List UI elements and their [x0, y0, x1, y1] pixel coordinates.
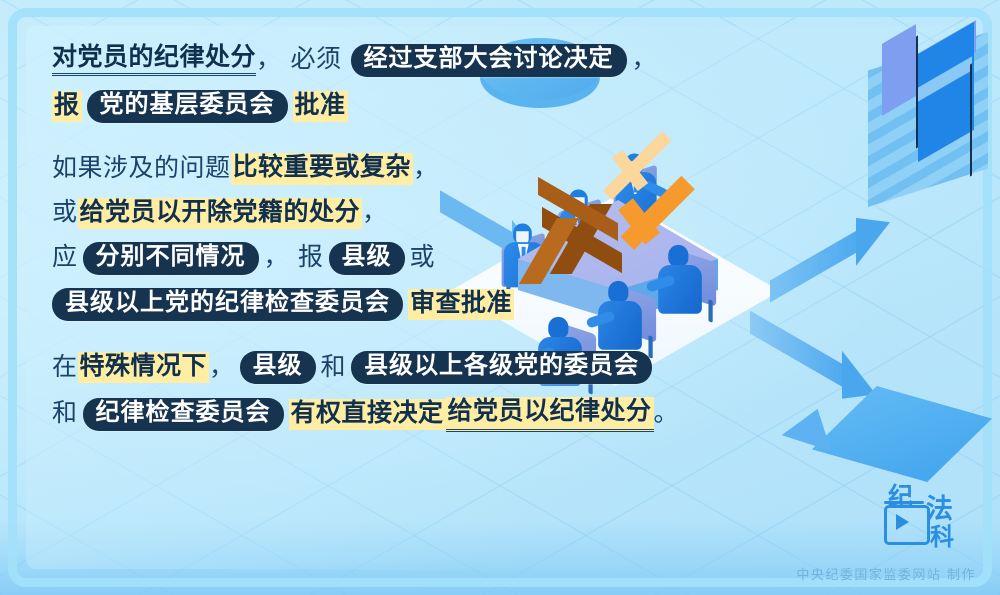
logo-underline: [884, 501, 924, 504]
highlight-run: 比较重要或复杂: [231, 153, 414, 184]
text-run: 必须: [291, 47, 342, 73]
text-line: 应分别不同情况，报县级或: [52, 242, 692, 275]
highlight-run: 审查批准: [408, 289, 514, 320]
text-run: 或: [52, 200, 78, 226]
text-run: ，: [632, 47, 658, 73]
text-line: 或给党员以开除党籍的处分，: [52, 198, 692, 229]
play-icon: [896, 514, 909, 530]
striped-building-icon: [818, 32, 988, 222]
highlight-run: 批准: [293, 91, 348, 122]
highlight-run-underlined: 给党员以纪律处分: [446, 397, 654, 431]
pill-badge: 党的基层委员会: [87, 90, 288, 123]
paragraph-p2: 如果涉及的问题比较重要或复杂，或给党员以开除党籍的处分，应分别不同情况，报县级或…: [52, 153, 692, 321]
pill-badge: 纪律检查委员会: [83, 398, 284, 431]
text-line: 在特殊情况下，县级和县级以上各级党的委员会: [52, 351, 692, 384]
pill-badge: 经过支部大会讨论决定: [351, 44, 627, 77]
logo-char-ke: 科: [930, 517, 954, 552]
text-run: 和: [321, 355, 347, 381]
text-run: 报: [298, 245, 324, 271]
blue-slab-icon: [812, 386, 992, 490]
text-run: 。: [654, 401, 680, 427]
text-run: 和: [52, 401, 78, 427]
text-run: ，: [362, 200, 388, 226]
text-line: 报党的基层委员会批准: [52, 90, 692, 123]
text-run: ，: [413, 156, 439, 182]
highlight-run: 报: [52, 91, 82, 122]
text-run: ，: [264, 245, 290, 271]
text-content: 对党员的纪律处分，必须经过支部大会讨论决定，报党的基层委员会批准如果涉及的问题比…: [52, 44, 692, 432]
text-run: 在: [52, 355, 78, 381]
pill-badge: 县级以上各级党的委员会: [351, 351, 652, 384]
poster-canvas: 对党员的纪律处分，必须经过支部大会讨论决定，报党的基层委员会批准如果涉及的问题比…: [0, 0, 1000, 595]
text-run: 应: [52, 245, 78, 271]
highlight-run: 特殊情况下: [78, 352, 210, 383]
text-run: 或: [410, 245, 436, 271]
pill-badge: 分别不同情况: [83, 242, 259, 275]
text-line: 如果涉及的问题比较重要或复杂，: [52, 153, 692, 184]
text-line: 对党员的纪律处分，必须经过支部大会讨论决定，: [52, 44, 692, 77]
paragraph-p1: 对党员的纪律处分，必须经过支部大会讨论决定，报党的基层委员会批准: [52, 44, 692, 123]
text-line: 和纪律检查委员会有权直接决定给党员以纪律处分。: [52, 397, 692, 431]
jifa-baike-logo: 纪 法 科: [880, 477, 976, 543]
text-run: 如果涉及的问题: [52, 156, 231, 182]
pill-badge: 县级: [329, 242, 405, 275]
text-run-underlined: 对党员的纪律处分: [52, 45, 256, 76]
paragraph-p3: 在特殊情况下，县级和县级以上各级党的委员会和纪律检查委员会有权直接决定给党员以纪…: [52, 351, 692, 431]
highlight-run: 给党员以开除党籍的处分: [78, 198, 363, 229]
text-run: ，: [256, 47, 282, 73]
text-line: 县级以上党的纪律检查委员会审查批准: [52, 288, 692, 321]
pill-badge: 县级: [240, 351, 316, 384]
text-run: ，: [209, 355, 235, 381]
highlight-run: 有权直接决定: [289, 399, 446, 430]
credit-text: 中央纪委国家监委网站 制作: [796, 564, 976, 583]
pill-badge: 县级以上党的纪律检查委员会: [52, 288, 403, 321]
